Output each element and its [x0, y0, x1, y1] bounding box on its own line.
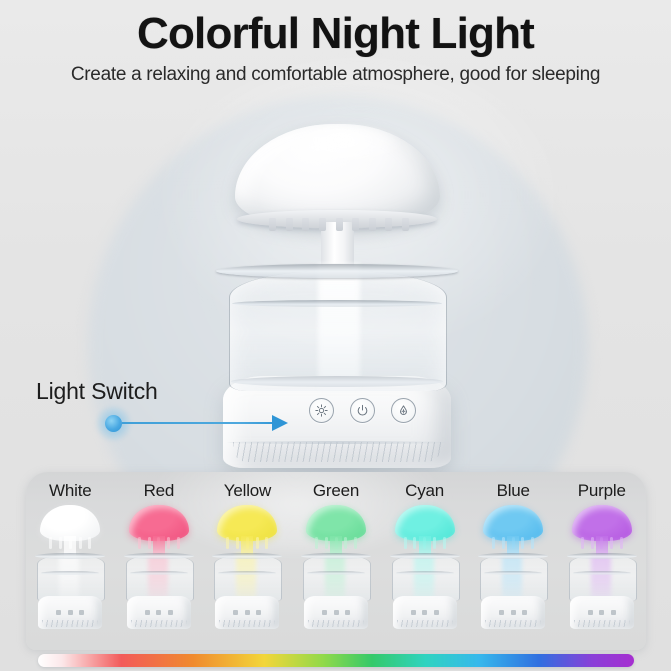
mini-base-vents — [574, 620, 630, 627]
mini-drop — [413, 537, 416, 549]
mini-base-dot — [511, 610, 516, 615]
tank-top-rim — [216, 264, 458, 278]
mini-drop — [404, 537, 407, 549]
mini-drop — [79, 537, 82, 549]
mini-base-dot — [499, 610, 504, 615]
swatch-label: Yellow — [224, 481, 271, 501]
mini-base-dots — [411, 610, 439, 615]
mini-base-dot — [599, 610, 604, 615]
mini-humidifier — [120, 503, 198, 633]
mini-mist — [414, 553, 434, 599]
mini-base-dots — [588, 610, 616, 615]
mini-base-vents — [219, 620, 275, 627]
mini-tank-rim — [35, 553, 105, 559]
mini-base-dot — [434, 610, 439, 615]
tank-bottom-rim — [231, 376, 443, 387]
swatch-label: Green — [313, 481, 359, 501]
mini-base-dot — [145, 610, 150, 615]
mini-base-dot — [79, 610, 84, 615]
color-swatch-row: White — [26, 472, 646, 650]
mini-drop — [88, 537, 91, 549]
mini-base-dot — [522, 610, 527, 615]
mini-drop — [138, 537, 141, 549]
mist-button[interactable] — [391, 398, 416, 423]
mini-tank-rim — [124, 553, 194, 559]
mini-base-dot — [588, 610, 593, 615]
mini-base-dot — [68, 610, 73, 615]
light-icon — [315, 404, 328, 417]
mini-drop — [502, 537, 505, 549]
mini-base-vents — [131, 620, 187, 627]
mini-drop — [620, 537, 623, 549]
mini-mist — [236, 553, 256, 599]
mini-base — [393, 596, 457, 629]
mini-drop — [443, 537, 446, 549]
mini-humidifier — [31, 503, 109, 633]
mini-drop — [167, 537, 170, 549]
mini-drop — [581, 537, 584, 549]
color-swatch-cyan[interactable]: Cyan — [380, 472, 469, 650]
mini-base-vents — [485, 620, 541, 627]
mini-drop — [256, 537, 259, 549]
mini-humidifier — [208, 503, 286, 633]
mini-drop — [315, 537, 318, 549]
mini-drop — [226, 537, 229, 549]
page-subtitle: Create a relaxing and comfortable atmosp… — [0, 64, 671, 86]
rainbow-gradient-bar — [38, 654, 634, 667]
mini-base-vents — [42, 620, 98, 627]
mini-base-dot — [422, 610, 427, 615]
swatch-label: Red — [144, 481, 175, 501]
nozzle — [319, 218, 326, 231]
mini-base — [304, 596, 368, 629]
nozzle — [336, 218, 343, 231]
mist-column — [318, 264, 360, 389]
mini-base-dot — [345, 610, 350, 615]
mini-base-dot — [322, 610, 327, 615]
page-title: Colorful Night Light — [0, 10, 671, 58]
color-swatch-panel: White — [26, 472, 646, 650]
mini-base — [215, 596, 279, 629]
mini-base-dot — [334, 610, 339, 615]
mini-mist — [502, 553, 522, 599]
mini-drop — [610, 537, 613, 549]
swatch-label: Blue — [497, 481, 530, 501]
mini-base-dots — [145, 610, 173, 615]
mini-base — [570, 596, 634, 629]
color-swatch-blue[interactable]: Blue — [469, 472, 558, 650]
swatch-label: Purple — [578, 481, 626, 501]
mini-tank-rim — [478, 553, 548, 559]
mini-waterline — [41, 571, 99, 575]
mini-tank-rim — [390, 553, 460, 559]
mini-base-dot — [233, 610, 238, 615]
mini-base — [38, 596, 102, 629]
mini-drop — [265, 537, 268, 549]
mini-drop — [148, 537, 151, 549]
product-marketing-image: Colorful Night Light Create a relaxing a… — [0, 0, 671, 671]
mini-mist — [325, 553, 345, 599]
nozzle — [352, 218, 359, 231]
mini-humidifier — [563, 503, 641, 633]
mini-base-dot — [245, 610, 250, 615]
mini-base-dot — [611, 610, 616, 615]
mini-drop — [354, 537, 357, 549]
mini-tank-rim — [301, 553, 371, 559]
color-swatch-yellow[interactable]: Yellow — [203, 472, 292, 650]
power-icon — [356, 404, 369, 417]
mini-drop — [433, 537, 436, 549]
mini-waterline — [218, 571, 276, 575]
control-button-row — [309, 398, 416, 423]
color-swatch-red[interactable]: Red — [115, 472, 204, 650]
glass-water-tank — [216, 264, 458, 394]
mini-drop — [325, 537, 328, 549]
mini-drop — [531, 537, 534, 549]
mini-drop — [521, 537, 524, 549]
mini-base — [127, 596, 191, 629]
mini-base-dot — [156, 610, 161, 615]
mini-base-dot — [256, 610, 261, 615]
mini-waterline — [573, 571, 631, 575]
mini-waterline — [307, 571, 365, 575]
mini-base-vents — [308, 620, 364, 627]
mini-humidifier — [297, 503, 375, 633]
mini-drop — [344, 537, 347, 549]
mini-tank-rim — [567, 553, 637, 559]
mini-base-vents — [397, 620, 453, 627]
color-swatch-white[interactable]: White — [26, 472, 115, 650]
mini-base-dot — [168, 610, 173, 615]
color-swatch-green[interactable]: Green — [292, 472, 381, 650]
nozzle — [302, 218, 309, 231]
mini-tank-rim — [212, 553, 282, 559]
mini-base-dots — [322, 610, 350, 615]
main-product-humidifier — [197, 118, 477, 478]
mini-base-dot — [56, 610, 61, 615]
mini-mist — [59, 553, 79, 599]
cap-highlight — [293, 126, 403, 166]
tank-waterline — [232, 300, 442, 307]
mini-waterline — [484, 571, 542, 575]
mini-base-dots — [233, 610, 261, 615]
base-vents — [233, 442, 441, 462]
mini-base — [481, 596, 545, 629]
nozzle — [402, 218, 409, 231]
mini-drop — [591, 537, 594, 549]
color-swatch-purple[interactable]: Purple — [557, 472, 646, 650]
mini-waterline — [396, 571, 454, 575]
rain-nozzles — [269, 218, 409, 232]
nozzle — [269, 218, 276, 231]
mini-drop — [492, 537, 495, 549]
mini-base-dots — [56, 610, 84, 615]
light-button[interactable] — [309, 398, 334, 423]
mini-waterline — [130, 571, 188, 575]
swatch-label: White — [49, 481, 91, 501]
mist-icon — [397, 404, 410, 417]
power-button[interactable] — [350, 398, 375, 423]
mini-mist — [148, 553, 168, 599]
mini-base-dot — [411, 610, 416, 615]
mini-drop — [177, 537, 180, 549]
mini-humidifier — [474, 503, 552, 633]
mini-drop — [49, 537, 52, 549]
nozzle — [385, 218, 392, 231]
nozzle — [369, 218, 376, 231]
nozzle — [286, 218, 293, 231]
mini-humidifier — [386, 503, 464, 633]
mini-mist — [591, 553, 611, 599]
mini-drop — [236, 537, 239, 549]
swatch-label: Cyan — [405, 481, 444, 501]
mini-drop — [59, 537, 62, 549]
mini-base-dots — [499, 610, 527, 615]
header: Colorful Night Light Create a relaxing a… — [0, 0, 671, 86]
